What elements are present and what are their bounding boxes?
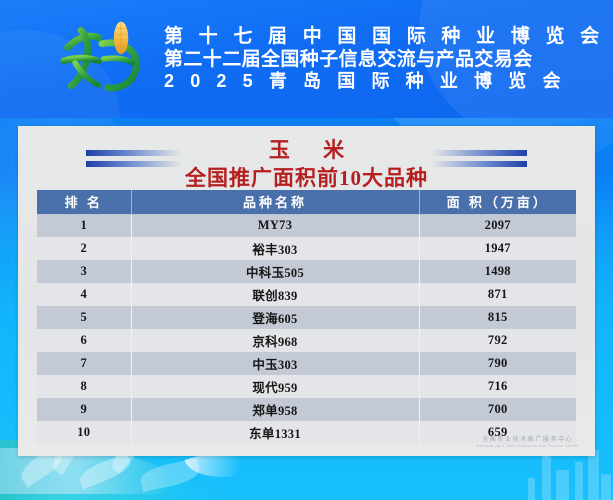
area-cell: 716 <box>419 375 576 398</box>
table-row: 6京科968792 <box>37 329 576 352</box>
variety-name-cell: 郑单958 <box>131 398 419 421</box>
content-panel: 玉 米 全国推广面积前10大品种 排 名 品种名称 面 积（万亩） 1MY732… <box>18 126 595 456</box>
rank-cell: 6 <box>37 329 131 352</box>
banner-title-line-1: 第 十 七 届 中 国 国 际 种 业 博 览 会 <box>164 25 604 48</box>
skyline-building <box>556 470 569 500</box>
table-header-row: 排 名 品种名称 面 积（万亩） <box>37 190 576 214</box>
table-row: 2裕丰3031947 <box>37 237 576 260</box>
table-row: 3中科玉5051498 <box>37 260 576 283</box>
page-subtitle: 全国推广面积前10大品种 <box>18 165 595 191</box>
table-header: 排 名 品种名称 面 积（万亩） <box>37 190 576 214</box>
rank-cell: 8 <box>37 375 131 398</box>
rank-cell: 9 <box>37 398 131 421</box>
variety-name-cell: 联创839 <box>131 283 419 306</box>
skyline-building <box>601 474 611 500</box>
variety-name-cell: 中科玉505 <box>131 260 419 283</box>
variety-name-cell: MY73 <box>131 214 419 237</box>
variety-name-cell: 京科968 <box>131 329 419 352</box>
slide-heading: 玉 米 全国推广面积前10大品种 <box>18 138 595 191</box>
table-body: 1MY7320972裕丰30319473中科玉50514984联创8398715… <box>37 214 576 444</box>
area-cell: 700 <box>419 398 576 421</box>
rank-cell: 2 <box>37 237 131 260</box>
area-cell: 2097 <box>419 214 576 237</box>
skyline-building <box>575 462 583 500</box>
rank-cell: 10 <box>37 421 131 444</box>
variety-name-cell: 东单1331 <box>131 421 419 444</box>
column-header-rank: 排 名 <box>37 190 131 214</box>
column-header-area: 面 积（万亩） <box>419 190 576 214</box>
column-header-variety-name: 品种名称 <box>131 190 419 214</box>
ranking-table: 排 名 品种名称 面 积（万亩） 1MY7320972裕丰30319473中科玉… <box>37 190 576 444</box>
area-cell: 790 <box>419 352 576 375</box>
area-cell: 815 <box>419 306 576 329</box>
table-row: 9郑单958700 <box>37 398 576 421</box>
skyline-building <box>528 478 535 500</box>
area-cell: 871 <box>419 283 576 306</box>
variety-name-cell: 中玉303 <box>131 352 419 375</box>
rank-cell: 3 <box>37 260 131 283</box>
rank-cell: 7 <box>37 352 131 375</box>
watermark-english-text: National Agro-Tech Extension and Service… <box>477 444 579 448</box>
table-row: 8现代959716 <box>37 375 576 398</box>
area-cell: 792 <box>419 329 576 352</box>
seed-expo-logo-icon <box>52 15 148 103</box>
rank-cell: 1 <box>37 214 131 237</box>
skyline-tower <box>588 450 599 500</box>
banner-title-line-2: 第二十二届全国种子信息交流与产品交易会 <box>164 48 604 71</box>
table-row: 4联创839871 <box>37 283 576 306</box>
variety-name-cell: 裕丰303 <box>131 237 419 260</box>
rank-cell: 4 <box>37 283 131 306</box>
table-row: 7中玉303790 <box>37 352 576 375</box>
rank-cell: 5 <box>37 306 131 329</box>
variety-name-cell: 登海605 <box>131 306 419 329</box>
area-cell: 1498 <box>419 260 576 283</box>
variety-name-cell: 现代959 <box>131 375 419 398</box>
table-row: 5登海605815 <box>37 306 576 329</box>
area-cell: 1947 <box>419 237 576 260</box>
watermark-chinese-text: 全国农业技术推广服务中心 <box>477 434 579 443</box>
page-title: 玉 米 <box>18 138 595 163</box>
skyline-tower <box>542 456 551 500</box>
banner-title-line-3: 2 0 2 5 青 岛 国 际 种 业 博 览 会 <box>164 71 604 93</box>
banner-titles: 第 十 七 届 中 国 国 际 种 业 博 览 会 第二十二届全国种子信息交流与… <box>164 25 604 93</box>
organization-watermark: 全国农业技术推广服务中心 National Agro-Tech Extensio… <box>477 434 579 448</box>
event-banner: 第 十 七 届 中 国 国 际 种 业 博 览 会 第二十二届全国种子信息交流与… <box>0 0 613 118</box>
table-row: 1MY732097 <box>37 214 576 237</box>
